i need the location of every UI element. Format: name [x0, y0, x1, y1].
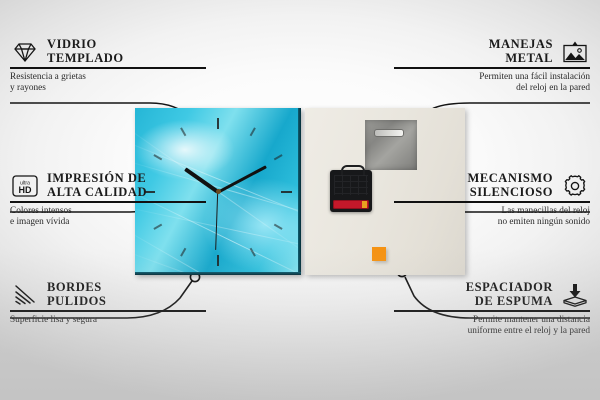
- feature-description: Permite mantener una distancia uniforme …: [394, 312, 590, 337]
- feature-title: IMPRESIÓN DE ALTA CALIDAD: [47, 172, 147, 199]
- feature-title: ESPACIADOR DE ESPUMA: [466, 281, 553, 308]
- feature-impresion-alta-calidad: ultra HD IMPRESIÓN DE ALTA CALIDAD Color…: [10, 172, 206, 228]
- feature-description: Permiten una fácil instalación del reloj…: [394, 69, 590, 94]
- metal-hanger-plate: [365, 120, 417, 170]
- feature-manejas-metal: MANEJAS METAL Permiten una fácil instala…: [394, 38, 590, 94]
- foam-spacer: [372, 247, 386, 261]
- clock-edge-bottom: [135, 272, 301, 275]
- feature-mecanismo-silencioso: MECANISMO SILENCIOSO Las manecillas del …: [394, 172, 590, 228]
- movement-texture: [334, 175, 368, 195]
- feature-title: BORDES PULIDOS: [47, 281, 106, 308]
- clock-center-pin: [216, 189, 221, 194]
- ultra-hd-icon: ultra HD: [10, 173, 40, 199]
- feature-title: MECANISMO SILENCIOSO: [467, 172, 553, 199]
- feature-description: Superficie lisa y segura: [10, 312, 206, 326]
- feature-espaciador-de-espuma: ESPACIADOR DE ESPUMA Permite mantener un…: [394, 281, 590, 337]
- feature-description: Colores intensos e imagen vívida: [10, 203, 206, 228]
- polished-edges-icon: [10, 282, 40, 308]
- svg-text:HD: HD: [19, 185, 32, 195]
- feature-description: Las manecillas del reloj no emiten ningú…: [394, 203, 590, 228]
- infographic-canvas: VIDRIO TEMPLADO Resistencia a grietas y …: [0, 0, 600, 400]
- quartz-movement: [330, 170, 372, 212]
- battery: [333, 200, 369, 209]
- clock-edge-right: [298, 108, 301, 275]
- feature-vidrio-templado: VIDRIO TEMPLADO Resistencia a grietas y …: [10, 38, 206, 94]
- feature-title: MANEJAS METAL: [489, 38, 553, 65]
- feature-description: Resistencia a grietas y rayones: [10, 69, 206, 94]
- picture-hanger-icon: [560, 39, 590, 65]
- feature-bordes-pulidos: BORDES PULIDOS Superficie lisa y segura: [10, 281, 206, 326]
- feature-title: VIDRIO TEMPLADO: [47, 38, 124, 65]
- gear-icon: [560, 173, 590, 199]
- keyhole-slot: [374, 129, 404, 137]
- diamond-icon: [10, 39, 40, 65]
- foam-spacer-icon: [560, 282, 590, 308]
